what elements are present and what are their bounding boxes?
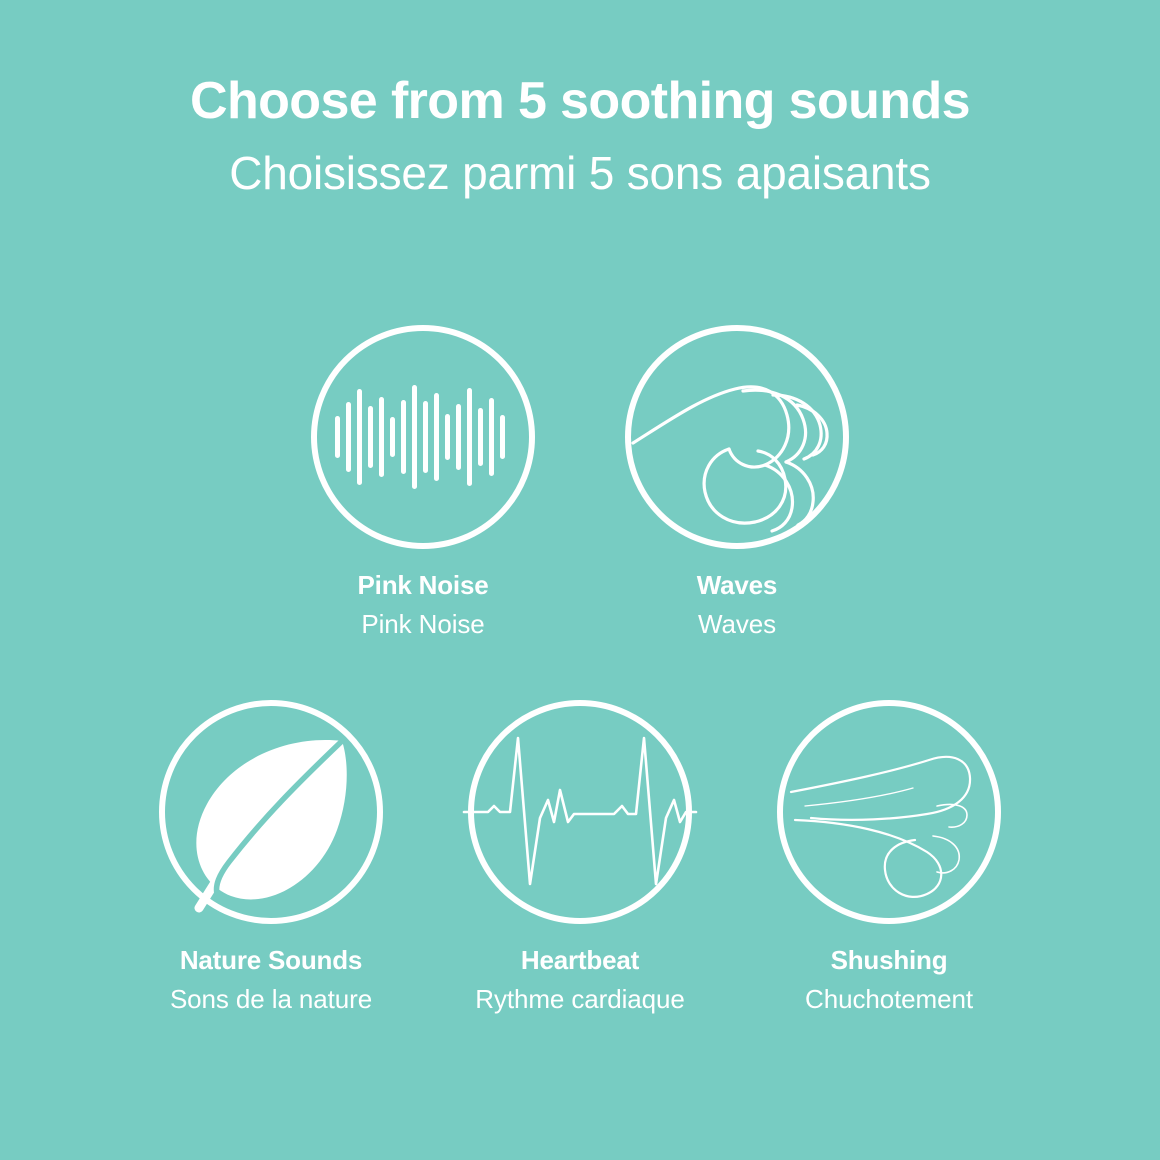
sound-card-pink-noise[interactable]: Pink Noise Pink Noise	[311, 325, 536, 640]
sound-icon-circle[interactable]	[468, 700, 692, 924]
sound-card-waves[interactable]: Waves Waves	[625, 325, 850, 640]
heartbeat-icon	[464, 722, 696, 902]
sound-label-en: Heartbeat	[521, 946, 639, 976]
sound-icon-circle[interactable]	[777, 700, 1001, 924]
sound-label-fr: Pink Noise	[361, 610, 484, 640]
sound-card-nature-sounds[interactable]: Nature Sounds Sons de la nature	[159, 700, 384, 1015]
sound-label-fr: Chuchotement	[805, 985, 973, 1015]
sound-row-bottom: Nature Sounds Sons de la nature Heartbea…	[0, 700, 1160, 1015]
sound-card-shushing[interactable]: Shushing Chuchotement	[777, 700, 1002, 1015]
sound-icon-circle[interactable]	[311, 325, 535, 549]
wave-icon	[631, 331, 843, 543]
leaf-icon	[171, 712, 371, 912]
waveform-icon	[333, 372, 513, 502]
wind-icon	[787, 710, 991, 914]
sound-label-en: Pink Noise	[358, 571, 489, 601]
sound-icon-circle[interactable]	[159, 700, 383, 924]
page-title: Choose from 5 soothing sounds	[0, 0, 1160, 129]
sound-row-top: Pink Noise Pink Noise	[0, 325, 1160, 640]
page-header: Choose from 5 soothing sounds Choisissez…	[0, 0, 1160, 197]
sound-label-fr: Waves	[698, 610, 776, 640]
sound-card-heartbeat[interactable]: Heartbeat Rythme cardiaque	[468, 700, 693, 1015]
sound-label-en: Nature Sounds	[180, 946, 362, 976]
sound-selection-page: Choose from 5 soothing sounds Choisissez…	[0, 0, 1160, 1160]
page-subtitle: Choisissez parmi 5 sons apaisants	[0, 129, 1160, 197]
sound-label-fr: Sons de la nature	[170, 985, 372, 1015]
sound-icon-circle[interactable]	[625, 325, 849, 549]
sound-label-en: Shushing	[831, 946, 948, 976]
sound-label-fr: Rythme cardiaque	[475, 985, 684, 1015]
sound-label-en: Waves	[697, 571, 777, 601]
